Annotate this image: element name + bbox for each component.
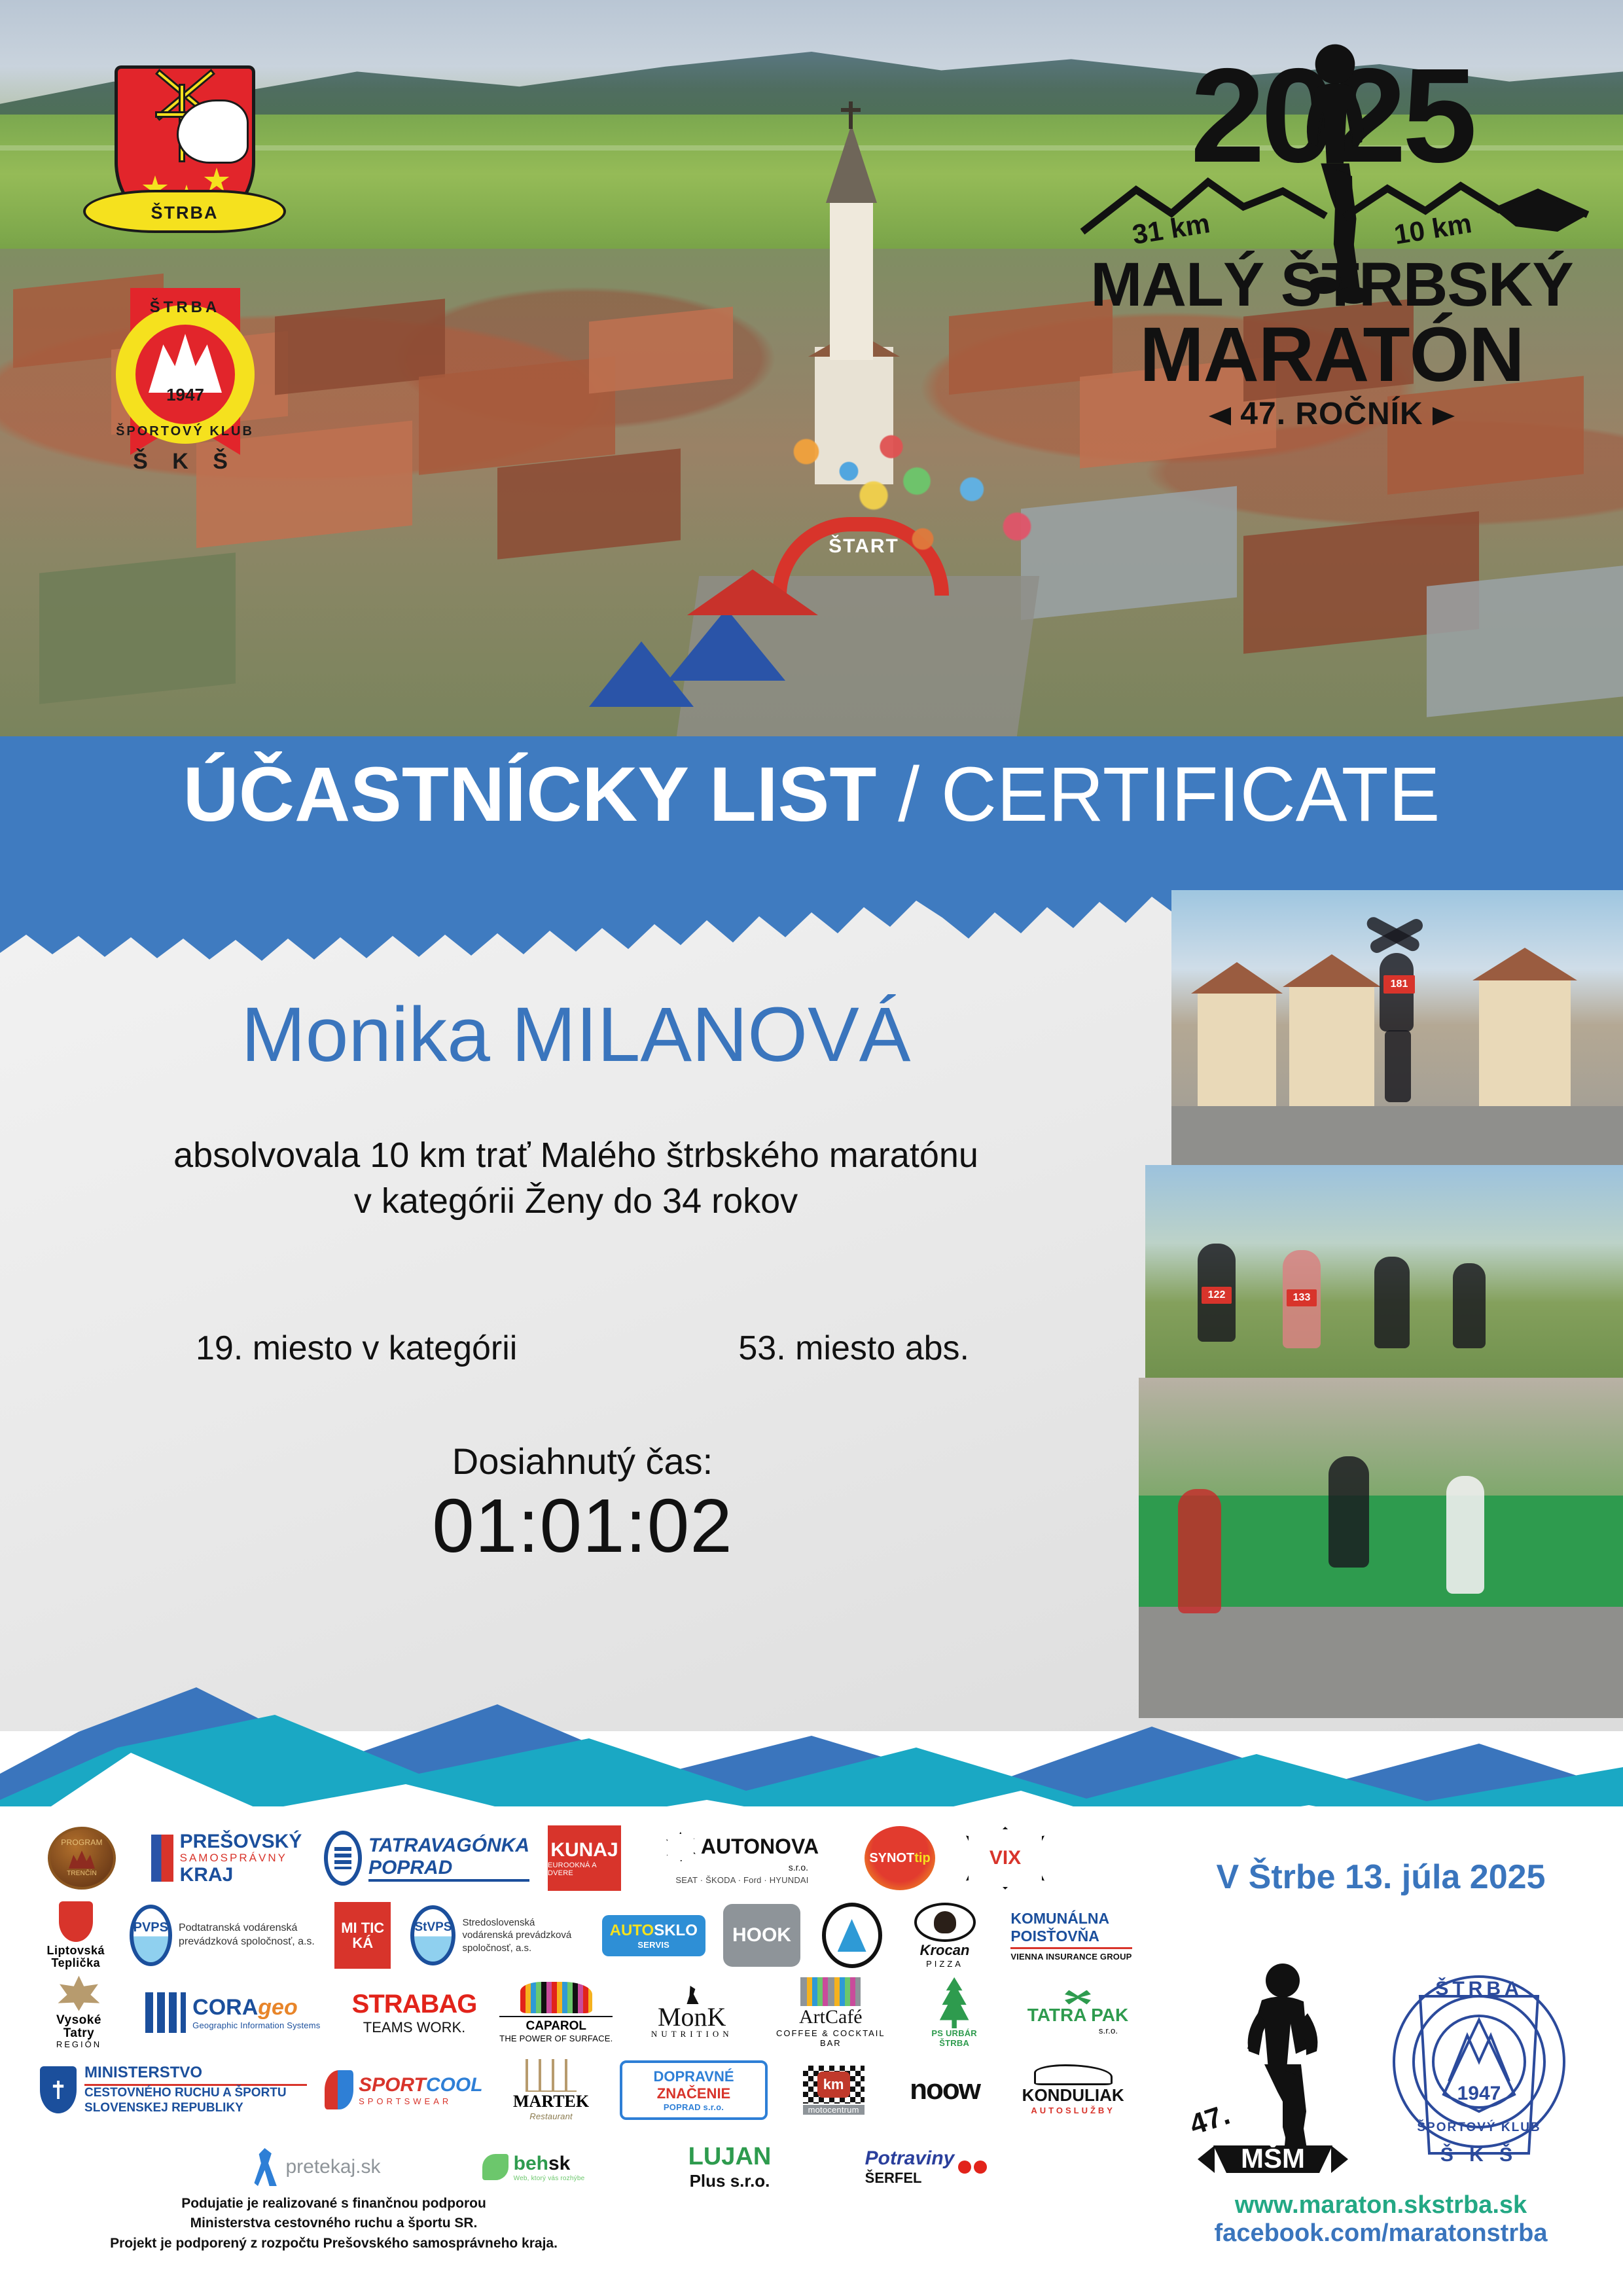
sponsor-label: pretekaj.sk xyxy=(285,2156,380,2178)
sponsor-label: LUJAN xyxy=(688,2143,772,2171)
sponsor-sublabel: geo xyxy=(258,1995,297,2020)
sponsor-sublabel: TRENČÍN xyxy=(67,1871,97,1878)
sponsor-row: Vysoké Tatry REGIÓN CORAgeo Geographic I… xyxy=(39,1974,1139,2051)
sponsor-sublabel: Plus s.r.o. xyxy=(688,2171,772,2191)
sponsor-label: MINISTERSTVO xyxy=(84,2064,307,2086)
photo-trail-runners: 133 122 xyxy=(1145,1165,1623,1388)
sponsor-pd-strba xyxy=(818,1903,885,1968)
sponsor-artcafe: ArtCafé COFFEE & COCKTAIL BAR xyxy=(770,1980,891,2045)
sponsor-sublabel: Stredoslovenská vodárenská prevádzková s… xyxy=(462,1916,584,1955)
contact-links: www.maraton.skstrba.sk facebook.com/mara… xyxy=(1165,2191,1597,2248)
certificate-body-line1: absolvovala 10 km trať Malého štrbského … xyxy=(0,1132,1152,1178)
banner-title-separator: / xyxy=(876,751,940,838)
sponsor-vix: VIX xyxy=(959,1825,1051,1891)
finish-time-block: Dosiahnutý čas: 01:01:02 xyxy=(0,1440,1165,1570)
sponsor-liptovska-teplicka: Liptovská Teplička xyxy=(39,1903,113,1968)
bib-number: 122 xyxy=(1202,1287,1232,1304)
sponsor-martek-restaurant: MARTEK Restaurant xyxy=(500,2057,603,2123)
sponsor-sublabel: motocentrum xyxy=(803,2105,865,2115)
sponsor-ministerstvo: MINISTERSTVO CESTOVNÉHO RUCHU A ŠPORTU S… xyxy=(39,2057,308,2123)
event-edition-label: 47. ROČNÍK xyxy=(1240,397,1423,431)
sponsor-sublabel: s.r.o. xyxy=(1027,2026,1129,2036)
sponsor-synottip: SYNOTtip xyxy=(857,1825,942,1891)
sponsor-label: Krocan xyxy=(914,1942,976,1959)
sponsor-sublabel: NUTRITION xyxy=(651,2029,733,2039)
sponsor-label: KONDULIAK xyxy=(1022,2085,1124,2106)
place-absolute: 53. miesto abs. xyxy=(738,1329,969,1368)
sponsor-label: CAPAROL xyxy=(499,2016,613,2034)
sponsor-sublabel: s.r.o. xyxy=(666,1862,819,1873)
sponsor-label: PS URBÁR xyxy=(931,2028,977,2038)
sponsor-label: Potraviny xyxy=(865,2147,955,2170)
sponsor-kunaj: KUNAJ EUROOKNÁ A DVERE xyxy=(542,1825,627,1891)
website-link[interactable]: www.maraton.skstrba.sk xyxy=(1165,2191,1597,2219)
footer-right-column: V Štrbe 13. júla 2025 47. xyxy=(1165,1806,1623,2296)
sks-club-logo: 1947 ŠTRBA ŠPORTOVÝ KLUB Š K Š xyxy=(108,288,262,455)
sponsor-label: km xyxy=(817,2072,850,2098)
sponsor-program-trencin: PROGRAM TRENČÍN xyxy=(39,1825,124,1891)
sks-year: 1947 xyxy=(135,385,235,405)
sponsor-sublabel: AUTOSLUŽBY xyxy=(1022,2106,1124,2115)
sponsor-sportcool: SPORTCOOL SPORTSWEAR xyxy=(325,2057,482,2123)
sponsor-sublabel: COFFEE & COCKTAIL BAR xyxy=(770,2028,891,2048)
sponsor-label3: Geographic Information Systems xyxy=(192,2020,320,2030)
sponsor-noow: noow xyxy=(899,2057,991,2123)
sponsor-sublabel: POPRAD s.r.o. xyxy=(632,2102,757,2112)
strba-coat-of-arms: ŠTRBA xyxy=(115,65,255,232)
tatravagonka-emblem-icon xyxy=(324,1831,362,1886)
sponsor-sublabel: POISŤOVŇA xyxy=(1010,1928,1132,1949)
sponsor-strabag: STRABAG TEAMS WORK. xyxy=(348,1980,482,2045)
sponsor-sublabel: Teplička xyxy=(47,1957,105,1969)
sponsor-row: MINISTERSTVO CESTOVNÉHO RUCHU A ŠPORTU S… xyxy=(39,2051,1139,2128)
sponsor-label: VIX xyxy=(990,1847,1021,1869)
sponsor-row: PROGRAM TRENČÍN PREŠOVSKÝ SAMOSPRÁVNY KR… xyxy=(39,1820,1139,1897)
sponsor-label: StVPS xyxy=(414,1920,452,1935)
event-title-block: 2025 31 km xyxy=(1067,59,1597,432)
presov-flag-icon xyxy=(151,1835,173,1882)
sponsor-ps-urbar-strba: PS URBÁR ŠTRBA xyxy=(908,1980,1000,2045)
sponsor-autonova: AUTONOVA s.r.o. SEAT · ŠKODA · Ford · HY… xyxy=(644,1825,840,1891)
sponsor-sublabel: REGIÓN xyxy=(39,2039,118,2049)
certificate-body-line2: v kategórii Ženy do 34 rokov xyxy=(0,1178,1152,1224)
sponsor-dopravne-znacenie: DOPRAVNÉ ZNAČENIE POPRAD s.r.o. xyxy=(620,2057,768,2123)
placement-row: 19. miesto v kategórii 53. miesto abs. xyxy=(0,1329,1165,1368)
sponsor-label3: VIENNA INSURANCE GROUP xyxy=(1010,1952,1132,1962)
distance-row: 31 km 10 km xyxy=(1067,175,1597,254)
sponsor-row: Liptovská Teplička PVPS Podtatranská vod… xyxy=(39,1897,1139,1974)
sponsor-label: CORA xyxy=(192,1995,258,2020)
sponsor-label: PROGRAM xyxy=(61,1839,102,1847)
sponsor-label: KOMUNÁLNA xyxy=(1010,1910,1132,1928)
sponsor-label: ArtCafé xyxy=(770,2006,891,2028)
photo-collage: 181 133 122 xyxy=(1113,890,1623,1734)
sponsor-presovsky-kraj: PREŠOVSKÝ SAMOSPRÁVNY KRAJ xyxy=(141,1825,312,1891)
sponsor-label3: KRAJ xyxy=(180,1865,302,1886)
time-value: 01:01:02 xyxy=(0,1482,1165,1570)
sponsor-sublabel: SERVIS xyxy=(610,1940,698,1950)
disclaimer-line2: Ministerstva cestovného ruchu a športu S… xyxy=(39,2214,628,2233)
sks-stamp: ŠTRBA 1947 ŠPORTOVÝ KLUB Š K Š xyxy=(1381,1957,1577,2173)
sponsor-sublabel: PIZZA xyxy=(914,1959,976,1969)
sponsor-corageo: CORAgeo Geographic Information Systems xyxy=(135,1980,330,2045)
arrow-right-icon xyxy=(1433,407,1455,425)
sponsor-sublabel: sk xyxy=(548,2153,570,2174)
sponsor-sublabel: Podtatranská vodárenská prevádzková spol… xyxy=(179,1922,315,1949)
church-cross-icon xyxy=(849,101,853,129)
event-edition: 47. ROČNÍK xyxy=(1067,396,1597,432)
sponsor-miticka: MI TIC KÁ xyxy=(332,1903,393,1968)
sponsor-sublabel: CESTOVNÉHO RUCHU A ŠPORTU SLOVENSKEJ REP… xyxy=(84,2086,307,2116)
sponsor-tatrapak: TATRA PAK s.r.o. xyxy=(1017,1980,1139,2045)
sponsor-beh-sk: behsk Web, ktorý vás rozhýbe xyxy=(458,2134,609,2200)
sponsor-label: SYNOT xyxy=(869,1851,914,1866)
sponsor-section: PROGRAM TRENČÍN PREŠOVSKÝ SAMOSPRÁVNY KR… xyxy=(0,1806,1623,2296)
sponsor-krocan-pizza: Krocan PIZZA xyxy=(902,1903,987,1968)
sponsor-komunalna-poistovna: KOMUNÁLNA POISŤOVŇA VIENNA INSURANCE GRO… xyxy=(1004,1903,1139,1968)
sponsor-konduliak: KONDULIAK AUTOSLUŽBY xyxy=(1007,2057,1139,2123)
time-label: Dosiahnutý čas: xyxy=(0,1440,1165,1482)
sponsor-label: noow xyxy=(910,2073,980,2106)
crest-ribbon-label: ŠTRBA xyxy=(86,203,283,223)
sponsor-sublabel: ŠERFEL xyxy=(865,2170,955,2187)
sponsor-label: PREŠOVSKÝ xyxy=(180,1831,302,1852)
sks-abbrev: Š K Š xyxy=(108,449,262,475)
bib-number: 181 xyxy=(1383,975,1415,994)
msm-edition-text: 47. xyxy=(1186,2098,1234,2142)
place-category: 19. miesto v kategórii xyxy=(196,1329,517,1368)
event-title-line2: MARATÓN xyxy=(1067,316,1597,393)
disclaimer-line3: Projekt je podporený z rozpočtu Prešovsk… xyxy=(39,2234,628,2253)
sponsor-sublabel: Restaurant xyxy=(513,2111,589,2121)
sponsor-monk-nutrition: MonK NUTRITION xyxy=(631,1980,753,2045)
facebook-link[interactable]: facebook.com/maratonstrba xyxy=(1165,2219,1597,2248)
banner-title: ÚČASTNÍCKY LIST / CERTIFICATE xyxy=(0,756,1623,833)
sponsor-km-motocentrum: km motocentrum xyxy=(785,2057,882,2123)
sponsor-vysoke-tatry: Vysoké Tatry REGIÓN xyxy=(39,1980,118,2045)
banner-title-en: CERTIFICATE xyxy=(941,751,1440,838)
sponsor-label: TATRA PAK xyxy=(1027,2005,1129,2026)
photo-finish-line xyxy=(1139,1378,1623,1718)
sponsor-label: MonK xyxy=(651,2005,733,2029)
sponsor-autosklo-servis: AUTOSKLO SERVIS xyxy=(602,1903,705,1968)
msm-runner-logo: 47. MŠM xyxy=(1185,1957,1361,2173)
autonova-burst-icon xyxy=(666,1832,696,1862)
sponsor-tatravagonka: TATRAVAGÓNKA POPRAD xyxy=(329,1825,525,1891)
arrow-left-icon xyxy=(1209,407,1231,425)
sponsor-label: AUTONOVA xyxy=(701,1835,819,1859)
sponsor-pvps: PVPS Podtatranská vodárenská prevádzková… xyxy=(130,1903,315,1968)
sponsor-sublabel: EUROOKNÁ A DVERE xyxy=(548,1861,621,1877)
issue-date: V Štrbe 13. júla 2025 xyxy=(1165,1857,1597,1897)
photo-finishing-runner: 181 xyxy=(1171,890,1623,1172)
certificate-text-block: Monika MILANOVÁ absolvovala 10 km trať M… xyxy=(0,995,1152,1224)
sponsor-sublabel: ŠTRBA xyxy=(931,2038,977,2048)
sponsor-sublabel: SPORTSWEAR xyxy=(359,2096,482,2106)
sponsor-caparol: CAPAROL THE POWER OF SURFACE. xyxy=(498,1980,614,2045)
sponsor-label: TATRAVAGÓNKA xyxy=(368,1835,529,1857)
msm-abbrev-text: MŠM xyxy=(1241,2142,1305,2173)
sks-bottom-label: ŠPORTOVÝ KLUB xyxy=(108,424,262,439)
sponsor-sublabel: SAMOSPRÁVNY xyxy=(180,1852,302,1865)
sponsor-sublabel: tip xyxy=(914,1851,930,1866)
stamp-top-text: ŠTRBA xyxy=(1435,1977,1522,2000)
sks-top-label: ŠTRBA xyxy=(108,298,262,317)
sponsor-label: Vysoké Tatry xyxy=(39,2014,118,2040)
sponsor-sublabel: POPRAD xyxy=(368,1857,529,1882)
sponsor-label: MARTEK xyxy=(513,2092,589,2111)
sponsor-grid: PROGRAM TRENČÍN PREŠOVSKÝ SAMOSPRÁVNY KR… xyxy=(39,1820,1139,2206)
sponsor-label: STRABAG xyxy=(352,1990,477,2019)
sponsor-label: beh xyxy=(514,2153,548,2174)
sponsor-hook: HOOK xyxy=(722,1903,801,1968)
disclaimer-line1: Podujatie je realizované s finančnou pod… xyxy=(39,2194,628,2214)
stamp-year-text: 1947 xyxy=(1457,2083,1501,2104)
crest-ribbon: ŠTRBA xyxy=(83,190,286,233)
autonova-brands: SEAT · ŠKODA · Ford · HYUNDAI xyxy=(666,1875,819,1885)
banner-title-sk: ÚČASTNÍCKY LIST xyxy=(183,751,877,838)
funding-disclaimer: Podujatie je realizované s finančnou pod… xyxy=(39,2194,628,2253)
sponsor-lujan-plus: LUJAN Plus s.r.o. xyxy=(668,2134,792,2200)
stamp-bottom-text: ŠPORTOVÝ KLUB xyxy=(1417,2120,1541,2134)
sponsor-potraviny-serfel: Potraviny ŠERFEL xyxy=(851,2134,1001,2200)
sponsor-label: MI TIC KÁ xyxy=(334,1902,391,1969)
participant-name: Monika MILANOVÁ xyxy=(0,995,1152,1076)
sponsor-label: PVPS xyxy=(134,1920,168,1935)
sponsor-sublabel: THE POWER OF SURFACE. xyxy=(499,2034,613,2043)
sponsor-label: HOOK xyxy=(723,1904,800,1967)
sponsor-pretekaj-sk: pretekaj.sk xyxy=(236,2134,399,2200)
sponsor-stvps: StVPS Stredoslovenská vodárenská prevádz… xyxy=(410,1903,584,1968)
stamp-abbrev-text: Š K Š xyxy=(1440,2144,1518,2166)
sponsor-label3: Web, ktorý vás rozhýbe xyxy=(514,2175,585,2182)
church-tower xyxy=(830,196,873,360)
sponsor-sublabel: TEAMS WORK. xyxy=(352,2019,477,2036)
bib-number: 133 xyxy=(1287,1289,1317,1306)
sponsor-label: KUNAJ xyxy=(550,1839,618,1861)
sponsor-label: Liptovská xyxy=(47,1945,105,1957)
certificate-page: ŠTART ŠTRBA 1947 ŠTRBA ŠPORTOVÝ KLUB Š K… xyxy=(0,0,1623,2296)
